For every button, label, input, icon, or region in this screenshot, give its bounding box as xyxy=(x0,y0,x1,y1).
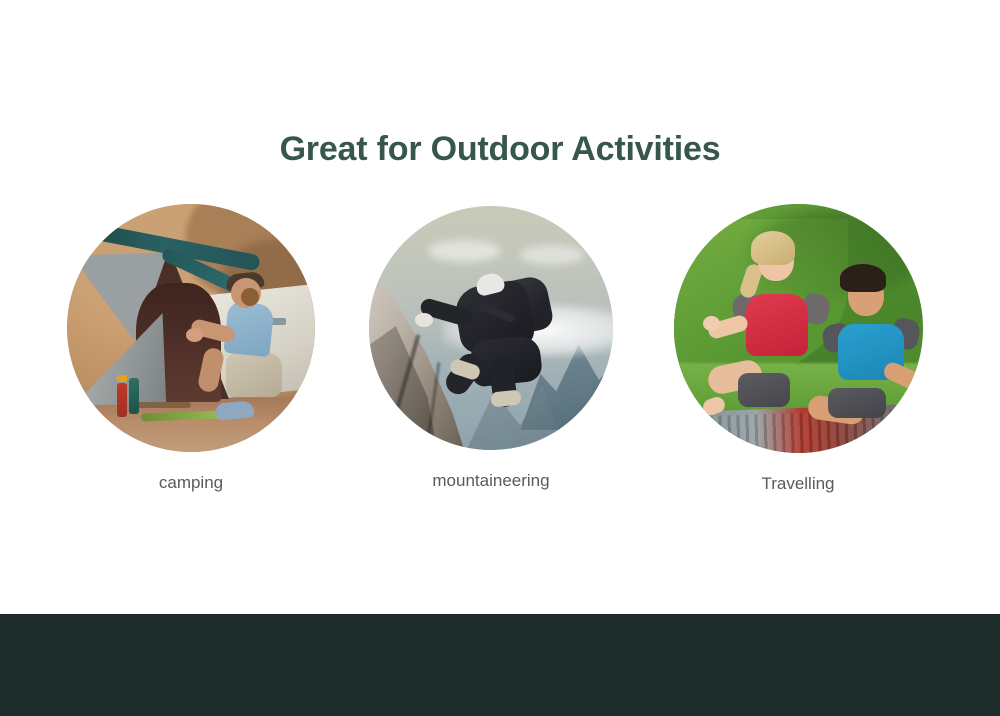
activity-item-camping[interactable]: camping xyxy=(66,204,316,494)
activity-label-camping: camping xyxy=(66,472,316,494)
activity-item-travelling[interactable]: Travelling xyxy=(673,204,923,495)
activity-label-mountaineering: mountaineering xyxy=(366,470,616,492)
camping-photo[interactable] xyxy=(67,204,315,452)
page-root: Great for Outdoor Activities xyxy=(0,0,1000,716)
activity-label-travelling: Travelling xyxy=(673,473,923,495)
activity-item-mountaineering[interactable]: mountaineering xyxy=(366,204,616,492)
page-title: Great for Outdoor Activities xyxy=(0,126,1000,172)
footer-band xyxy=(0,614,1000,716)
mountaineering-scene xyxy=(369,206,613,450)
camping-scene xyxy=(67,204,315,452)
travelling-scene xyxy=(674,204,923,453)
activity-list: camping xyxy=(0,204,1000,504)
mountaineering-photo[interactable] xyxy=(369,206,613,450)
travelling-photo[interactable] xyxy=(674,204,923,453)
